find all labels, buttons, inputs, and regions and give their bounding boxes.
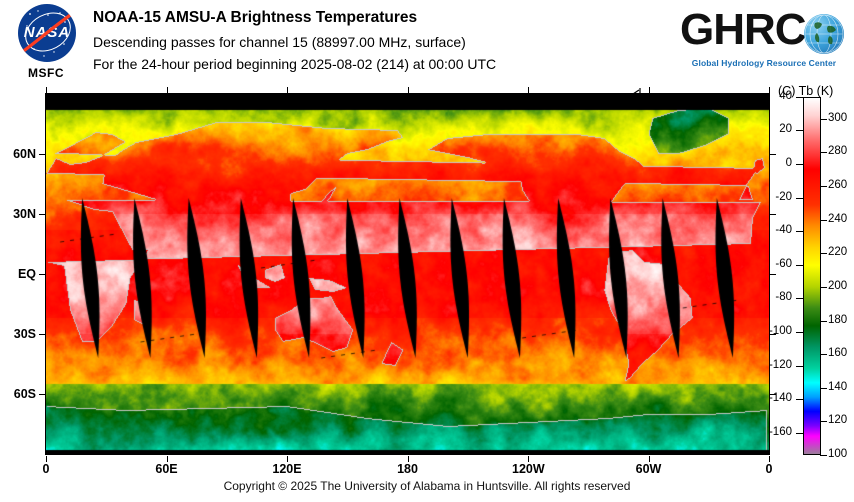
colorbar-tick-kelvin (820, 152, 827, 153)
title-subtitle-channel: Descending passes for channel 15 (88997.… (93, 32, 653, 52)
colorbar-label-celsius: -100 (748, 325, 792, 337)
colorbar-tick-celsius (796, 332, 803, 333)
colorbar-tick-celsius (796, 97, 803, 98)
brightness-temperature-map[interactable] (45, 93, 770, 455)
colorbar-label-kelvin: 300 (828, 112, 847, 124)
colorbar-tick-kelvin (820, 455, 827, 456)
colorbar-label-kelvin: 220 (828, 246, 847, 258)
colorbar-label-celsius: -60 (748, 258, 792, 270)
nasa-logo: NASA MSFC (10, 4, 82, 86)
x-tick-mark-top (287, 87, 288, 93)
x-tick-mark-top (167, 87, 168, 93)
ghrc-letters: GHRC (680, 5, 806, 54)
colorbar-label-kelvin: 180 (828, 314, 847, 326)
ghrc-globe-icon (804, 14, 844, 54)
swath-start-marker-icon (630, 88, 658, 100)
y-tick-mark-right (770, 274, 776, 275)
colorbar-tick-kelvin (820, 253, 827, 254)
colorbar-label-kelvin: 280 (828, 145, 847, 157)
colorbar-tick-kelvin (820, 186, 827, 187)
colorbar-label-celsius: -140 (748, 392, 792, 404)
x-axis-label: 0 (753, 462, 785, 476)
colorbar[interactable] (803, 97, 821, 455)
colorbar-tick-celsius (796, 366, 803, 367)
copyright-notice: Copyright © 2025 The University of Alaba… (0, 479, 854, 493)
y-axis-label: EQ (0, 267, 36, 281)
colorbar-label-kelvin: 100 (828, 448, 847, 460)
colorbar-tick-celsius (796, 399, 803, 400)
x-axis-label: 120W (512, 462, 544, 476)
title-subtitle-period: For the 24-hour period beginning 2025-08… (93, 54, 653, 74)
colorbar-tick-celsius (796, 231, 803, 232)
colorbar-tick-celsius (796, 298, 803, 299)
nasa-swoosh-icon (18, 8, 76, 60)
colorbar-label-celsius: -160 (748, 426, 792, 438)
y-tick-mark (39, 274, 45, 275)
y-tick-mark (39, 154, 45, 155)
ghrc-logo: GHRC Global Hydrology Resource C (680, 6, 846, 80)
y-axis-label: 30S (0, 327, 36, 341)
y-tick-mark-right (770, 154, 776, 155)
colorbar-label-celsius: 20 (748, 123, 792, 135)
page-title: NOAA-15 AMSU-A Brightness Temperatures (93, 8, 653, 28)
colorbar-tick-kelvin (820, 287, 827, 288)
colorbar-label-kelvin: 140 (828, 381, 847, 393)
colorbar-label-celsius: 40 (748, 90, 792, 102)
nasa-center-label: MSFC (10, 66, 82, 80)
colorbar-tick-kelvin (820, 354, 827, 355)
y-tick-mark (39, 394, 45, 395)
y-tick-mark (39, 214, 45, 215)
colorbar-tick-kelvin (820, 421, 827, 422)
x-tick-mark-top (649, 87, 650, 93)
colorbar-tick-celsius (796, 433, 803, 434)
colorbar-label-kelvin: 120 (828, 414, 847, 426)
colorbar-tick-kelvin (820, 388, 827, 389)
y-axis-label: 60S (0, 387, 36, 401)
ghrc-subtitle: Global Hydrology Resource Center (684, 58, 844, 68)
colorbar-label-kelvin: 200 (828, 280, 847, 292)
x-tick-mark-top (408, 87, 409, 93)
colorbar-tick-kelvin (820, 220, 827, 221)
x-tick-mark-top (46, 87, 47, 93)
nasa-meatball-icon: NASA (18, 4, 76, 62)
colorbar-label-celsius: 0 (748, 157, 792, 169)
colorbar-tick-celsius (796, 130, 803, 131)
title-block: NOAA-15 AMSU-A Brightness Temperatures D… (93, 8, 653, 76)
colorbar-tick-kelvin (820, 119, 827, 120)
colorbar-label-celsius: -120 (748, 359, 792, 371)
x-axis-label: 60E (151, 462, 183, 476)
x-axis-label: 60W (633, 462, 665, 476)
colorbar-tick-kelvin (820, 321, 827, 322)
colorbar-label-kelvin: 160 (828, 347, 847, 359)
header-banner: NASA MSFC NOAA-15 AMSU-A Brightness Temp… (0, 0, 854, 90)
colorbar-tick-celsius (796, 265, 803, 266)
colorbar-label-kelvin: 240 (828, 213, 847, 225)
colorbar-label-celsius: -20 (748, 191, 792, 203)
x-axis-label: 180 (392, 462, 424, 476)
colorbar-label-celsius: -80 (748, 291, 792, 303)
y-tick-mark (39, 334, 45, 335)
x-axis-label: 0 (30, 462, 62, 476)
map-raster (46, 94, 769, 454)
x-tick-mark-top (528, 87, 529, 93)
y-tick-mark-right (770, 214, 776, 215)
y-axis-label: 60N (0, 147, 36, 161)
y-axis-label: 30N (0, 207, 36, 221)
colorbar-label-kelvin: 260 (828, 179, 847, 191)
colorbar-tick-celsius (796, 164, 803, 165)
colorbar-tick-celsius (796, 198, 803, 199)
x-axis-label: 120E (271, 462, 303, 476)
colorbar-label-celsius: -40 (748, 224, 792, 236)
